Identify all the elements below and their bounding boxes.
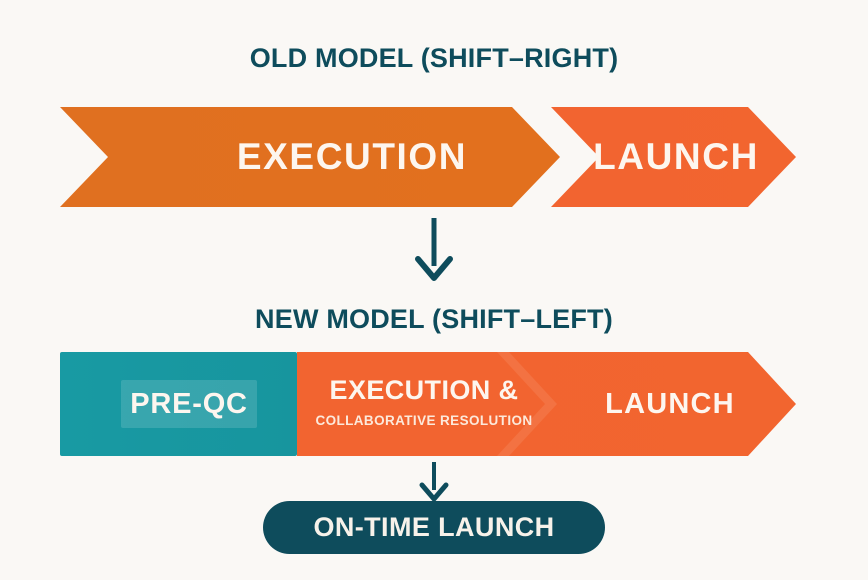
on-time-launch-pill: ON-TIME LAUNCH (263, 501, 605, 554)
on-time-launch-label: ON-TIME LAUNCH (263, 501, 605, 554)
old-model-title: OLD MODEL (SHIFT–RIGHT) (0, 43, 868, 74)
new-model-arrow-band (60, 352, 796, 456)
old-stage-execution-shape (60, 107, 560, 207)
new-stage-preqc-shape (60, 352, 297, 456)
old-stage-launch-shape (551, 107, 796, 207)
new-model-title: NEW MODEL (SHIFT–LEFT) (0, 304, 868, 335)
old-model-arrow-band (60, 107, 796, 207)
diagram-canvas: OLD MODEL (SHIFT–RIGHT) EXECUTION LAUNCH (0, 0, 868, 580)
down-arrow-icon (414, 218, 454, 288)
